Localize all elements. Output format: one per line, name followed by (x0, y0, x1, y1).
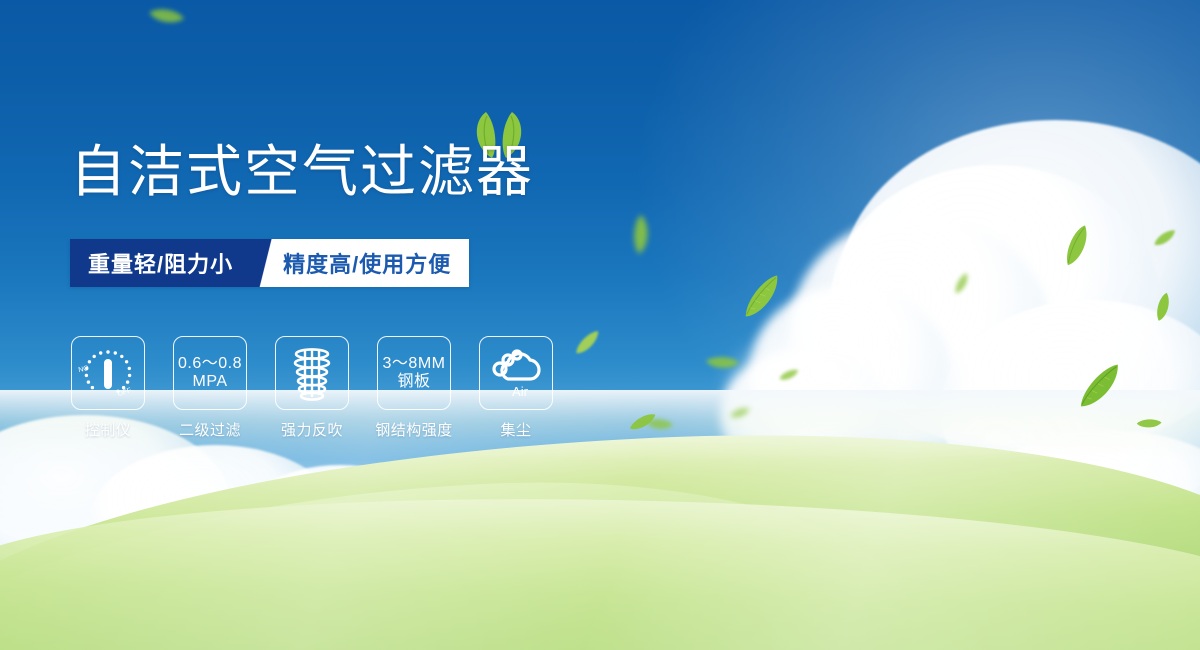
subtitle-left-text: 重量轻/阻力小 (70, 239, 253, 287)
feature-icon-box: NO OFF (71, 336, 145, 410)
subtitle-divider (253, 239, 279, 287)
pressure-text-icon: 0.6～0.8 MPA (178, 355, 242, 391)
feature-icon-box: 0.6～0.8 MPA (173, 336, 247, 410)
feature-item-backblow[interactable]: 强力反吹 (274, 336, 350, 440)
cloud-air-icon: Air (484, 342, 548, 404)
product-banner: 自洁式空气过滤器 重量轻/阻力小 精度高/使用方便 (0, 0, 1200, 650)
feature-item-two-stage-filter[interactable]: 0.6～0.8 MPA 二级过滤 (172, 336, 248, 440)
feature-label: 强力反吹 (281, 419, 343, 440)
feature-icon-line-2: MPA (178, 373, 242, 391)
feature-icon-line-1: 3～8MM (383, 355, 446, 373)
feature-label: 控制仪 (85, 419, 132, 440)
feature-icon-line-1: Air (512, 384, 529, 399)
feature-label: 钢结构强度 (375, 419, 453, 440)
feature-icon-box (275, 336, 349, 410)
feature-icon-box: 3～8MM 钢板 (377, 336, 451, 410)
feature-label: 二级过滤 (179, 419, 241, 440)
page-title: 自洁式空气过滤器 (70, 143, 534, 202)
subtitle-right-text: 精度高/使用方便 (279, 239, 469, 287)
feature-icon-line-1: 0.6～0.8 (178, 355, 242, 373)
subtitle-badge-bar: 重量轻/阻力小 精度高/使用方便 (70, 239, 469, 287)
svg-text:NO: NO (78, 365, 90, 374)
svg-text:OFF: OFF (117, 387, 132, 398)
filter-stack-icon (286, 345, 338, 401)
feature-label: 集尘 (500, 419, 531, 440)
feature-list: NO OFF 控制仪 0.6～0.8 MPA 二级过滤 (70, 336, 554, 440)
gauge-icon: NO OFF (77, 342, 139, 404)
feature-icon-line-2: 钢板 (383, 373, 446, 391)
feature-item-dust-collection[interactable]: Air 集尘 (478, 336, 554, 440)
steel-plate-text-icon: 3～8MM 钢板 (383, 355, 446, 391)
feature-icon-box: Air (479, 336, 553, 410)
feature-item-steel-strength[interactable]: 3～8MM 钢板 钢结构强度 (376, 336, 452, 440)
feature-item-controller[interactable]: NO OFF 控制仪 (70, 336, 146, 440)
